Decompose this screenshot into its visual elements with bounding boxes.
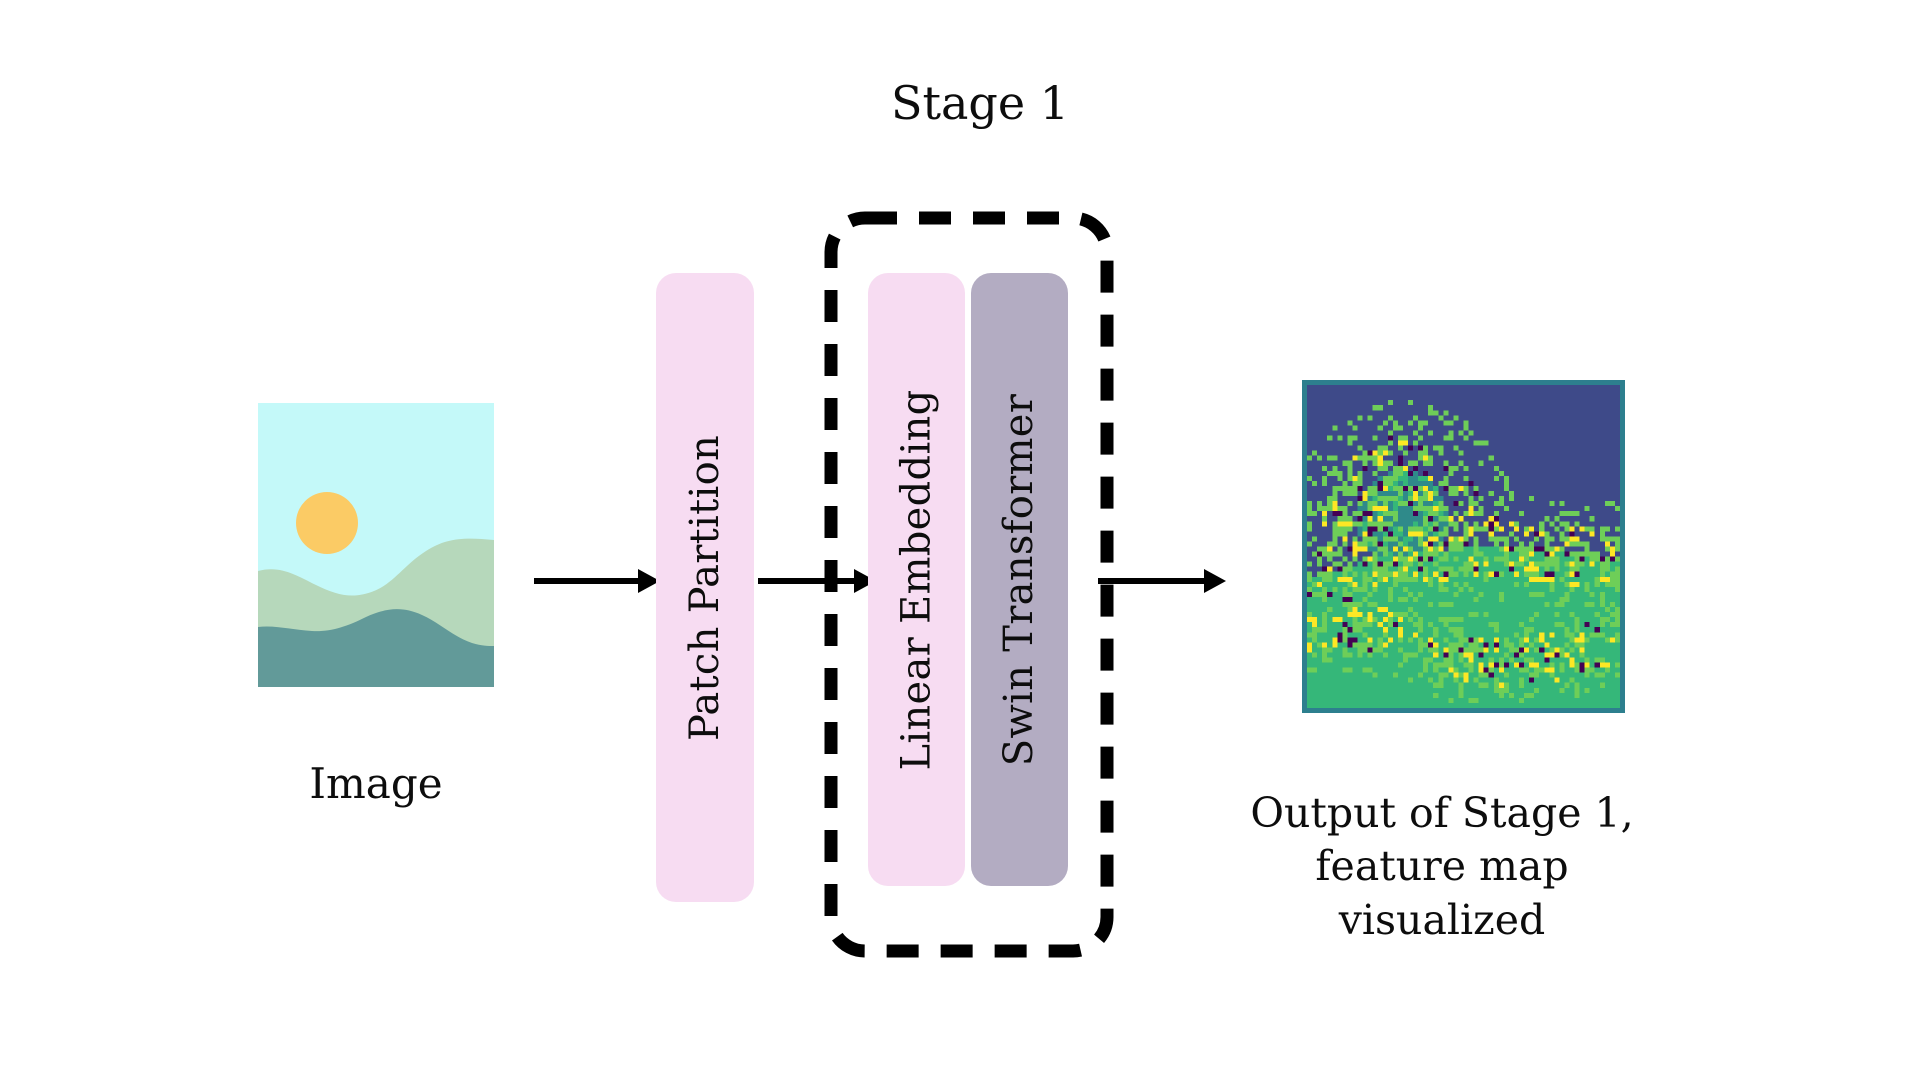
arrow-stage-to-output bbox=[1098, 564, 1226, 598]
output-feature-map bbox=[1302, 380, 1625, 713]
output-caption-line-1: Output of Stage 1, bbox=[1222, 787, 1662, 840]
page-title: Stage 1 bbox=[790, 78, 1170, 129]
output-caption: Output of Stage 1, feature map visualize… bbox=[1222, 787, 1662, 947]
block-swin-transformer-label: Swin Transformer bbox=[997, 393, 1043, 765]
arrow-image-to-patch-partition bbox=[534, 564, 660, 598]
block-swin-transformer[interactable]: Swin Transformer bbox=[971, 273, 1068, 886]
diagram-canvas: Stage 1 Image Patch Partition bbox=[0, 0, 1920, 1080]
input-image-thumbnail bbox=[258, 403, 494, 687]
block-linear-embedding[interactable]: Linear Embedding bbox=[868, 273, 965, 886]
block-patch-partition[interactable]: Patch Partition bbox=[656, 273, 754, 902]
block-patch-partition-label: Patch Partition bbox=[682, 434, 728, 740]
output-caption-line-2: feature map bbox=[1222, 840, 1662, 893]
output-caption-line-3: visualized bbox=[1222, 894, 1662, 947]
input-image-graphic bbox=[258, 403, 494, 687]
sun-circle bbox=[296, 492, 358, 554]
feature-map-canvas bbox=[1302, 380, 1625, 713]
input-image-caption: Image bbox=[216, 757, 536, 812]
block-linear-embedding-label: Linear Embedding bbox=[894, 389, 940, 770]
